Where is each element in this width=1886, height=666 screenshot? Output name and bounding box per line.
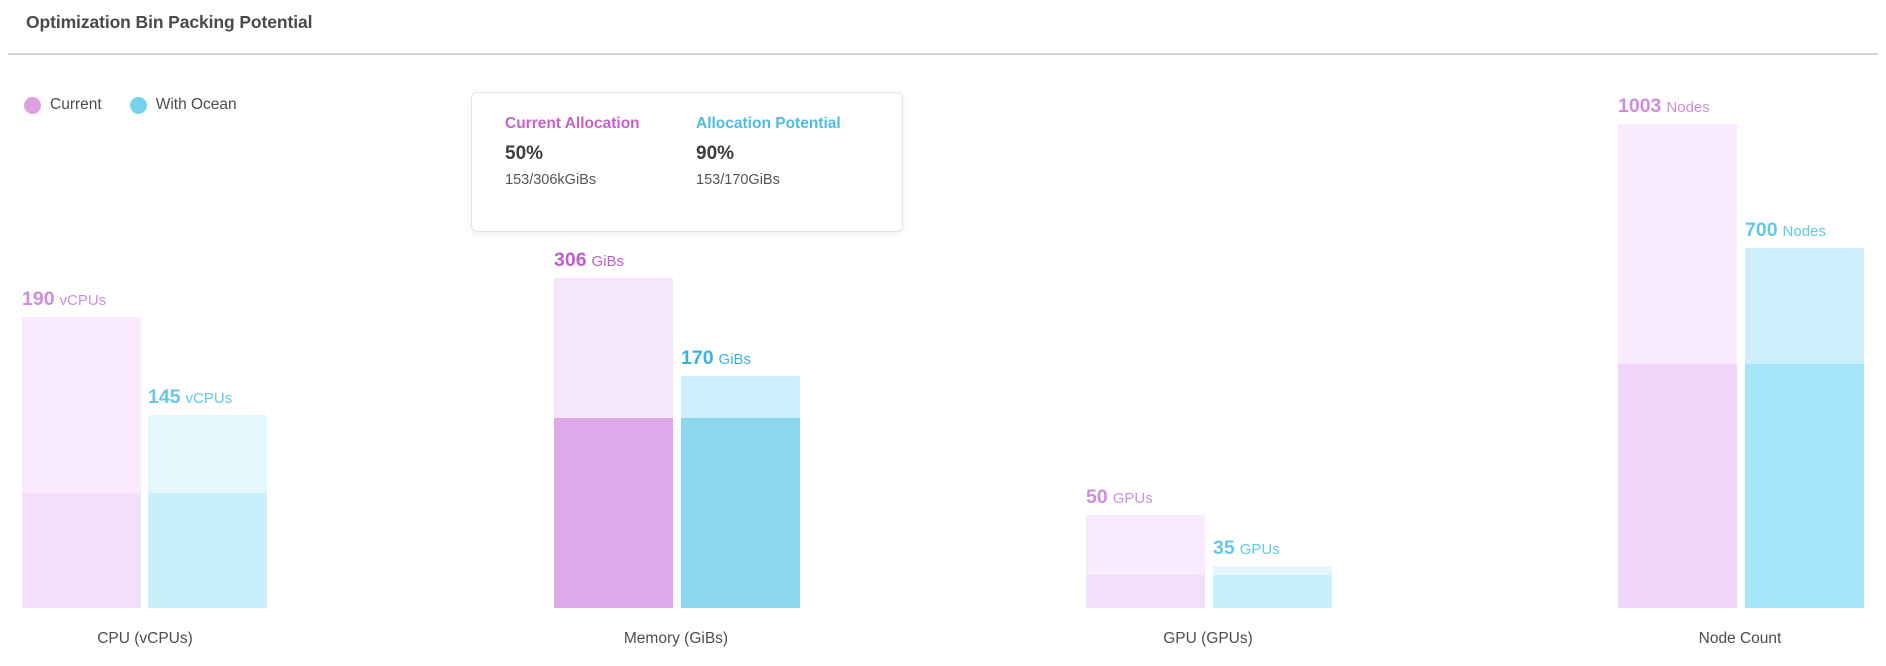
bar-value-label: 145vCPUs [148,386,232,409]
axis-label-cpu: CPU (vCPUs) [0,630,290,648]
axis-label-memory: Memory (GiBs) [531,630,821,648]
bar-segment-upper [22,317,141,493]
bar-segment-upper [1086,515,1205,575]
bar-group-node-count: 1003Nodes 700Nodes Node Count [1595,0,1885,666]
bar-group-gpu: 50GPUs 35GPUs GPU (GPUs) [1063,0,1353,666]
bar-node-count-with-ocean[interactable]: 700Nodes [1745,248,1864,608]
bar-gpu-with-ocean[interactable]: 35GPUs [1213,566,1332,608]
bar-segment-lower [554,418,673,608]
bar-gpu-current[interactable]: 50GPUs [1086,515,1205,608]
bar-value-label: 1003Nodes [1618,95,1710,118]
bar-segment-upper [148,415,267,493]
bar-group-cpu: 190vCPUs 145vCPUs CPU (vCPUs) [0,0,290,666]
bar-value-label: 35GPUs [1213,537,1280,560]
bar-segment-lower [1745,364,1864,608]
bar-segment-lower [1086,575,1205,608]
bar-segment-upper [1618,124,1737,364]
bar-body [22,317,141,608]
bar-value-label: 306GiBs [554,249,624,272]
bar-segment-lower [1618,364,1737,608]
bar-body [1745,248,1864,608]
bar-segment-upper [1745,248,1864,364]
bar-chart-plot: 190vCPUs 145vCPUs CPU (vCPUs) 306GiBs [0,0,1886,666]
bar-body [1086,515,1205,608]
bar-segment-lower [681,418,800,608]
bar-segment-lower [148,493,267,608]
bar-value-label: 50GPUs [1086,486,1153,509]
bar-memory-with-ocean[interactable]: 170GiBs [681,376,800,608]
bar-node-count-current[interactable]: 1003Nodes [1618,124,1737,608]
bar-value-label: 700Nodes [1745,219,1826,242]
bar-body [1618,124,1737,608]
bar-body [148,415,267,608]
bar-cpu-with-ocean[interactable]: 145vCPUs [148,415,267,608]
bar-value-label: 190vCPUs [22,288,106,311]
bar-segment-upper [1213,566,1332,575]
axis-label-node-count: Node Count [1595,630,1885,648]
bar-group-memory: 306GiBs 170GiBs Memory (GiBs) [531,0,821,666]
bar-body [554,278,673,608]
bar-memory-current[interactable]: 306GiBs [554,278,673,608]
axis-label-gpu: GPU (GPUs) [1063,630,1353,648]
bar-segment-lower [22,493,141,608]
bar-segment-upper [554,278,673,418]
bar-body [681,376,800,608]
bar-value-label: 170GiBs [681,347,751,370]
bar-segment-upper [681,376,800,418]
bar-segment-lower [1213,575,1332,608]
bar-cpu-current[interactable]: 190vCPUs [22,317,141,608]
bar-body [1213,566,1332,608]
